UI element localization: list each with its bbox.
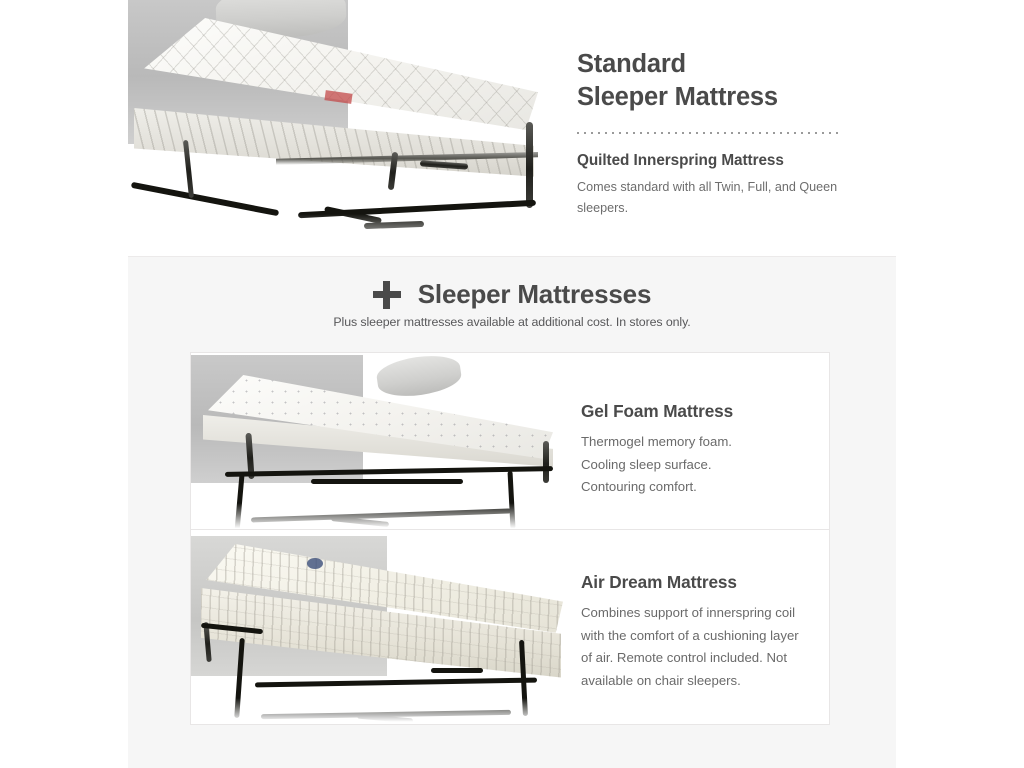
gel-foam-description: Thermogel memory foam. Cooling sleep sur… [581,431,803,499]
standard-mattress-subtitle: Quilted Innerspring Mattress [577,152,877,170]
standard-mattress-photo [128,0,568,256]
frame-leg-right [526,122,533,208]
sofa-bolster-shape [375,353,463,401]
plus-sleeper-mattresses-section: Sleeper Mattresses Plus sleeper mattress… [128,256,896,768]
photo-bottom-fade [191,503,581,529]
plus-section-header: Sleeper Mattresses Plus sleeper mattress… [128,279,896,329]
standard-mattress-photo-art [128,0,568,256]
gel-foam-card-body: Gel Foam Mattress Thermogel memory foam.… [581,353,829,529]
plus-headline: Sleeper Mattresses [128,279,896,310]
plus-icon [373,281,401,309]
plus-section-title: Sleeper Mattresses [418,279,651,310]
air-dream-description: Combines support of innerspring coil wit… [581,602,803,693]
standard-mattress-section: Standard Sleeper Mattress Quilted Inners… [0,0,1024,256]
photo-bottom-fade [191,698,581,724]
standard-mattress-text: Standard Sleeper Mattress Quilted Inners… [577,48,877,218]
air-dream-logo-tag [307,558,323,569]
gel-foam-mattress-photo [191,353,581,529]
mattress-card-list: Gel Foam Mattress Thermogel memory foam.… [190,352,830,725]
page-title-line1: Standard [577,50,686,78]
page-title: Standard Sleeper Mattress [577,48,877,113]
air-dream-photo-art [191,530,581,724]
dotted-divider [577,132,841,134]
sleeper-mattress-infographic: Standard Sleeper Mattress Quilted Inners… [0,0,1024,768]
frame-crossbar [311,479,463,484]
standard-mattress-description: Comes standard with all Twin, Full, and … [577,177,877,218]
mattress-card-gel-foam[interactable]: Gel Foam Mattress Thermogel memory foam.… [191,353,829,529]
gel-foam-photo-art [191,353,581,529]
frame-crossbar [255,678,537,688]
frame-left-foot [131,182,279,217]
page-title-line2: Sleeper Mattress [577,83,778,111]
frame-leg-right [543,441,549,483]
frame-crossbar-upper [431,668,483,673]
plus-section-note: Plus sleeper mattresses available at add… [128,315,896,329]
photo-bottom-fade [128,214,568,256]
air-dream-title: Air Dream Mattress [581,572,803,593]
air-dream-mattress-photo [191,530,581,724]
air-dream-card-body: Air Dream Mattress Combines support of i… [581,530,829,724]
mattress-card-air-dream[interactable]: Air Dream Mattress Combines support of i… [191,529,829,724]
gel-foam-title: Gel Foam Mattress [581,401,803,422]
